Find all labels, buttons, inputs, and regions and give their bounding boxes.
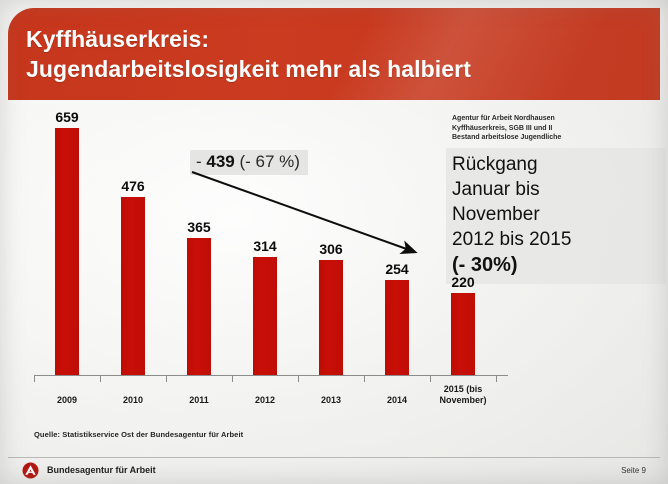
x-axis-tick (298, 375, 299, 382)
bar-value-label: 220 (430, 274, 496, 290)
x-axis-label-line: 2015 (bis (426, 384, 500, 395)
footer-brand: Bundesagentur für Arbeit (47, 465, 156, 475)
x-axis-label-line: 2012 (228, 395, 302, 406)
x-axis-label-line: 2011 (162, 395, 236, 406)
bar-group-2010: 476 (100, 163, 166, 375)
source-note: Quelle: Statistikservice Ost der Bundesa… (34, 430, 243, 439)
x-axis-tick (364, 375, 365, 382)
x-axis-label-line: 2014 (360, 395, 434, 406)
x-axis-tick (34, 375, 35, 382)
page-title-line2: Jugendarbeitslosigkeit mehr als halbiert (26, 54, 626, 84)
slide-page: Kyffhäuserkreis: Jugendarbeitslosigkeit … (0, 0, 668, 484)
x-axis-tick (100, 375, 101, 382)
x-axis-label-line: 2009 (30, 395, 104, 406)
ba-triangle-logo-icon (22, 462, 39, 479)
x-axis-tick (430, 375, 431, 382)
bar[interactable] (121, 197, 145, 375)
x-axis-line (34, 375, 508, 376)
x-axis-tick (232, 375, 233, 382)
x-axis-label-line: 2013 (294, 395, 368, 406)
bar[interactable] (55, 128, 79, 375)
page-number: Seite 9 (621, 466, 646, 475)
x-axis-tick (496, 375, 497, 382)
x-axis-label: 2012 (228, 395, 302, 406)
bar-group-2009: 659 (34, 94, 100, 375)
x-axis-label: 2011 (162, 395, 236, 406)
bar[interactable] (253, 257, 277, 375)
x-axis-label: 2014 (360, 395, 434, 406)
bar[interactable] (385, 280, 409, 375)
x-axis-label: 2015 (bisNovember) (426, 384, 500, 406)
page-title-line1: Kyffhäuserkreis: (26, 26, 209, 52)
x-axis-label-line: 2010 (96, 395, 170, 406)
bar-value-label: 659 (34, 109, 100, 125)
page-title: Kyffhäuserkreis: Jugendarbeitslosigkeit … (26, 24, 626, 84)
bar[interactable] (451, 293, 475, 375)
trend-arrow-icon (180, 160, 440, 270)
x-axis-label: 2010 (96, 395, 170, 406)
x-axis-label: 2009 (30, 395, 104, 406)
x-axis-label-line: November) (426, 395, 500, 406)
footer: Bundesagentur für Arbeit Seite 9 (0, 458, 668, 484)
x-axis-label: 2013 (294, 395, 368, 406)
x-axis-tick (166, 375, 167, 382)
bar[interactable] (319, 260, 343, 375)
header-banner: Kyffhäuserkreis: Jugendarbeitslosigkeit … (8, 8, 660, 100)
bar-value-label: 476 (100, 178, 166, 194)
bar-group-2015-bis-november-: 220 (430, 259, 496, 375)
